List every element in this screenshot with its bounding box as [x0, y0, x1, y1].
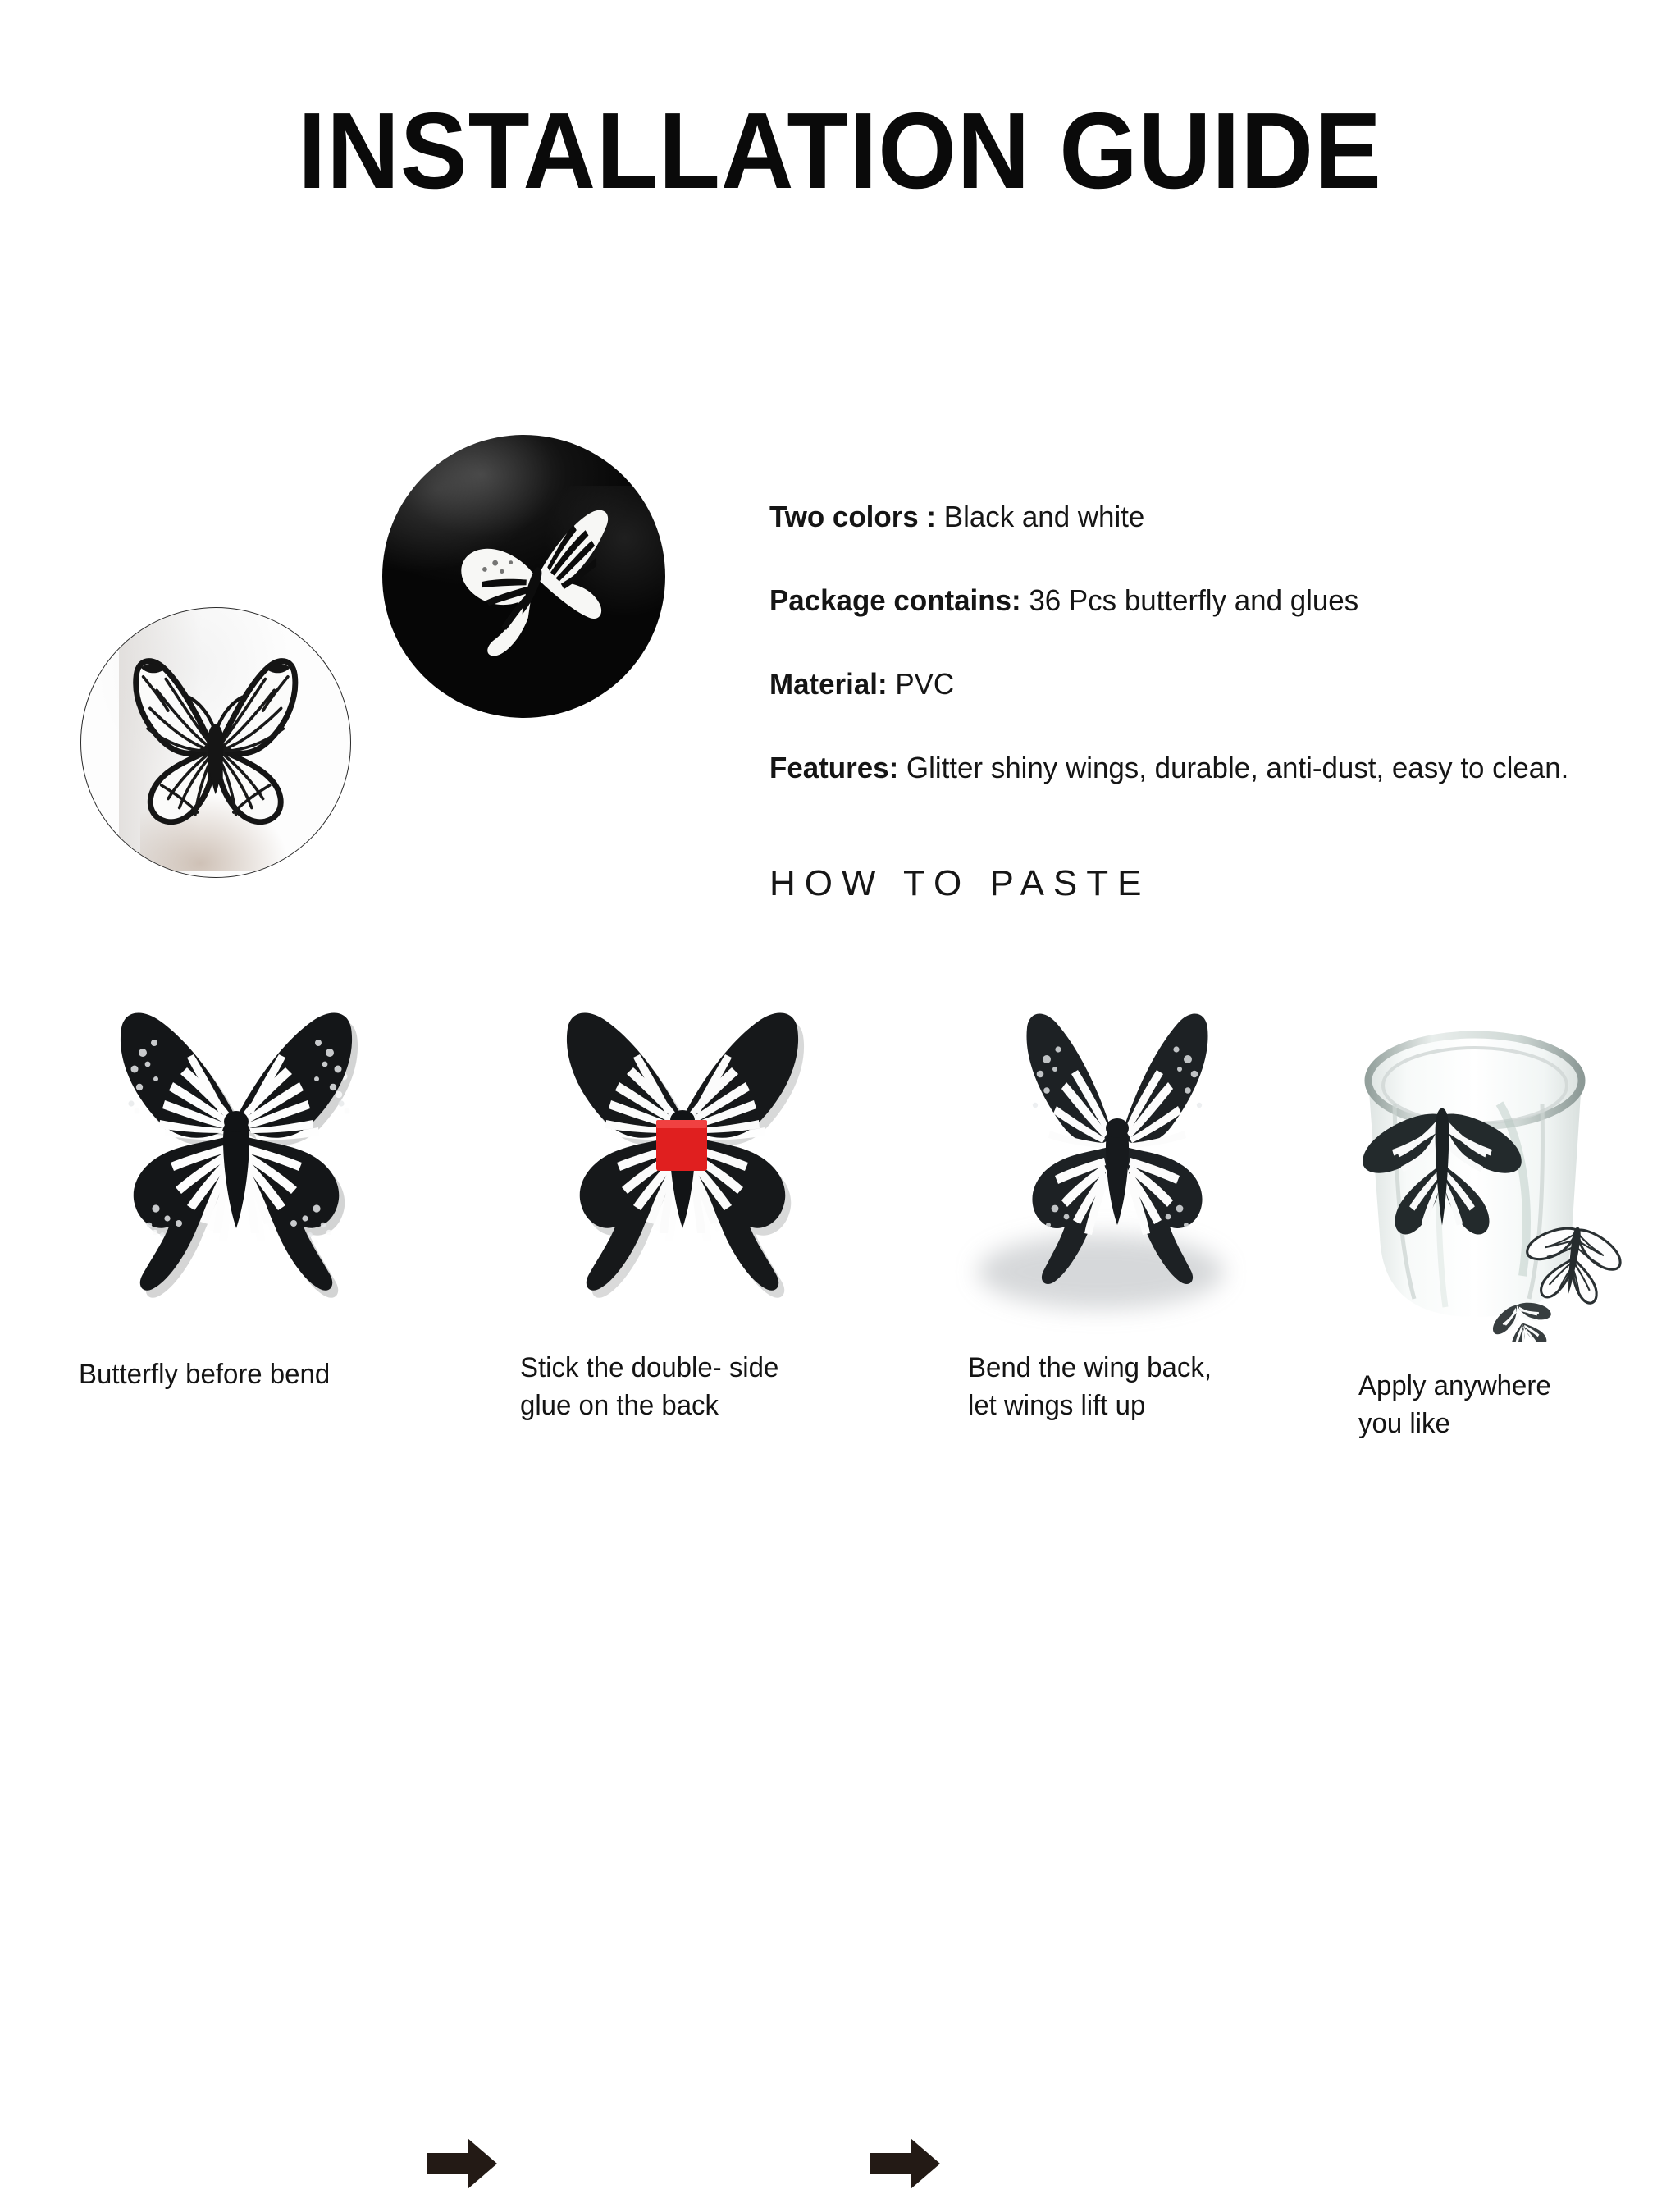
spec-value: Black and white	[944, 500, 1145, 533]
spec-row-features: Features: Glitter shiny wings, durable, …	[769, 750, 1581, 786]
step-1-caption: Butterfly before bend	[79, 1356, 330, 1394]
spec-label: Material:	[769, 667, 888, 701]
spec-row-material: Material: PVC	[769, 666, 1581, 702]
butterfly-with-glue-icon	[510, 989, 855, 1329]
step-1-illustration	[64, 989, 409, 1329]
spec-row-package: Package contains: 36 Pcs butterfly and g…	[769, 583, 1581, 619]
spec-value: 36 Pcs butterfly and glues	[1029, 583, 1358, 617]
step-4-caption: Apply anywhere you like	[1358, 1368, 1551, 1442]
product-photo-black-butterfly	[382, 435, 665, 718]
step-4-illustration	[1335, 989, 1680, 1329]
step-3-illustration	[945, 989, 1290, 1329]
product-photo-white-butterfly	[80, 607, 351, 878]
arrow-step1-to-step2-icon	[425, 2133, 499, 2194]
spec-row-colors: Two colors : Black and white	[769, 499, 1581, 535]
spec-value: PVC	[895, 667, 954, 701]
spec-value: Glitter shiny wings, durable, anti-dust,…	[906, 751, 1568, 784]
step-4: Apply anywhere you like	[1335, 989, 1680, 1329]
spec-label: Two colors :	[769, 500, 936, 533]
step-2-illustration	[510, 989, 855, 1329]
step-1: Butterfly before bend	[64, 989, 409, 1329]
how-to-paste-heading: HOW TO PASTE	[769, 863, 1151, 904]
glass-vase-with-butterflies-icon	[1335, 989, 1680, 1342]
spec-label: Package contains:	[769, 583, 1021, 617]
flat-black-butterfly-icon	[64, 989, 409, 1329]
step-3-caption: Bend the wing back, let wings lift up	[968, 1350, 1212, 1424]
page-title: INSTALLATION GUIDE	[59, 97, 1622, 205]
step-2-caption: Stick the double- side glue on the back	[520, 1350, 778, 1424]
spec-label: Features:	[769, 751, 898, 784]
arrow-step2-to-step3-icon	[868, 2133, 942, 2194]
white-butterfly-icon	[103, 640, 329, 844]
step-2: Stick the double- side glue on the back	[510, 989, 855, 1329]
how-to-paste-steps: Butterfly before bend	[0, 989, 1680, 1563]
step-3: Bend the wing back, let wings lift up	[945, 989, 1290, 1329]
black-butterfly-icon	[422, 474, 648, 689]
spec-list: Two colors : Black and white Package con…	[769, 499, 1606, 786]
bent-butterfly-icon	[945, 989, 1290, 1329]
